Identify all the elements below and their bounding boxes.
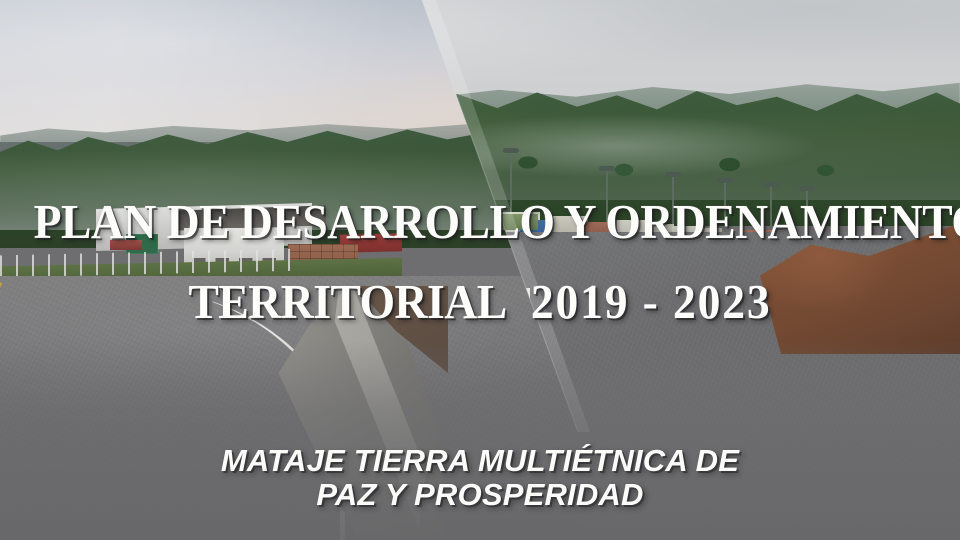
- page-title-period: 2019 - 2023: [531, 274, 772, 329]
- page-title-territorial: TERRITORIAL: [188, 274, 506, 329]
- page-title-line-1: PLAN DE DESARROLLO Y ORDENAMIENTO: [34, 196, 927, 248]
- page-title-line-2: TERRITORIAL2019 - 2023: [34, 276, 927, 328]
- page-subtitle-line-2: PAZ Y PROSPERIDAD: [0, 478, 960, 512]
- page-subtitle-line-1: MATAJE TIERRA MULTIÉTNICA DE: [221, 443, 739, 478]
- title-overlay: PLAN DE DESARROLLO Y ORDENAMIENTO TERRIT…: [0, 0, 960, 540]
- page-subtitle: MATAJE TIERRA MULTIÉTNICA DE PAZ Y PROSP…: [0, 444, 960, 512]
- report-cover-page: PLAN DE DESARROLLO Y ORDENAMIENTO TERRIT…: [0, 0, 960, 540]
